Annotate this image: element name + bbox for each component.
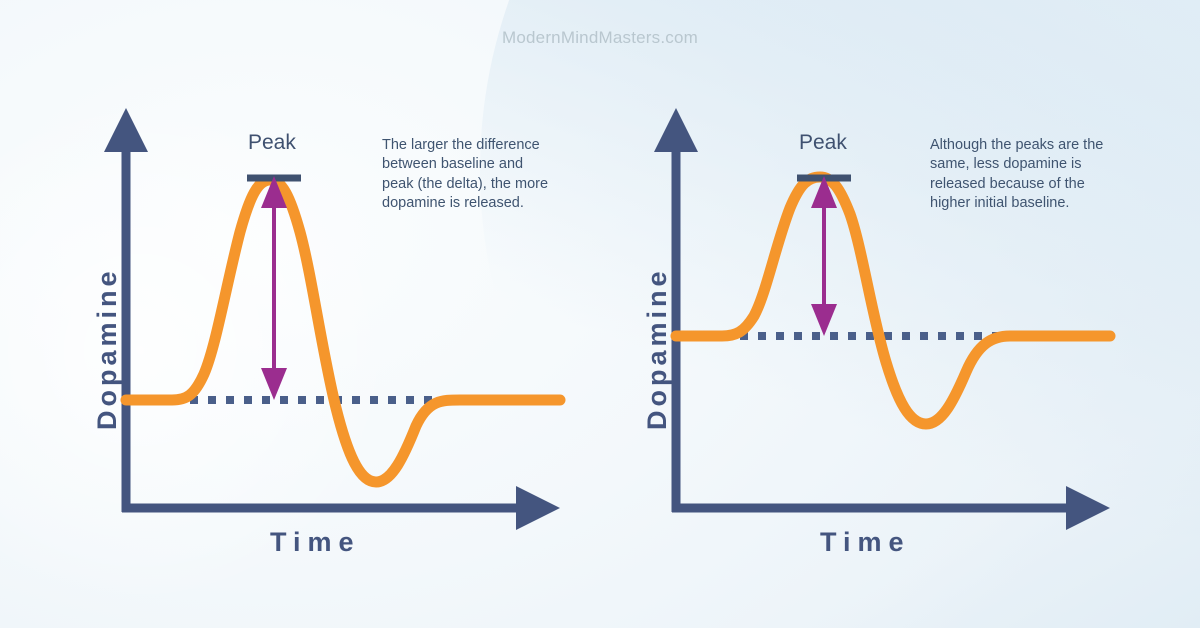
delta-arrow-low	[261, 176, 287, 400]
chart-panel-high-baseline: Dopamine Time Peak Although the peaks ar…	[600, 0, 1200, 628]
annotation-note-high: Although the peaks are the same, less do…	[930, 136, 1105, 213]
x-axis-label-low: Time	[270, 527, 361, 558]
peak-label-low: Peak	[248, 131, 296, 155]
x-axis-low-baseline	[122, 486, 560, 530]
annotation-note-low: The larger the difference between baseli…	[382, 136, 557, 213]
delta-arrow-high	[811, 176, 837, 336]
infographic-canvas: ModernMindMasters.com	[0, 0, 1200, 628]
y-axis-label-high: Dopamine	[642, 267, 673, 430]
chart-panel-low-baseline: Dopamine Time Peak The larger the differ…	[0, 0, 600, 628]
dopamine-curve-low	[126, 180, 560, 482]
x-axis-label-high: Time	[820, 527, 911, 558]
peak-label-high: Peak	[799, 131, 847, 155]
dopamine-curve-high	[676, 177, 1110, 424]
y-axis-label-low: Dopamine	[92, 267, 123, 430]
x-axis-high-baseline	[672, 486, 1110, 530]
